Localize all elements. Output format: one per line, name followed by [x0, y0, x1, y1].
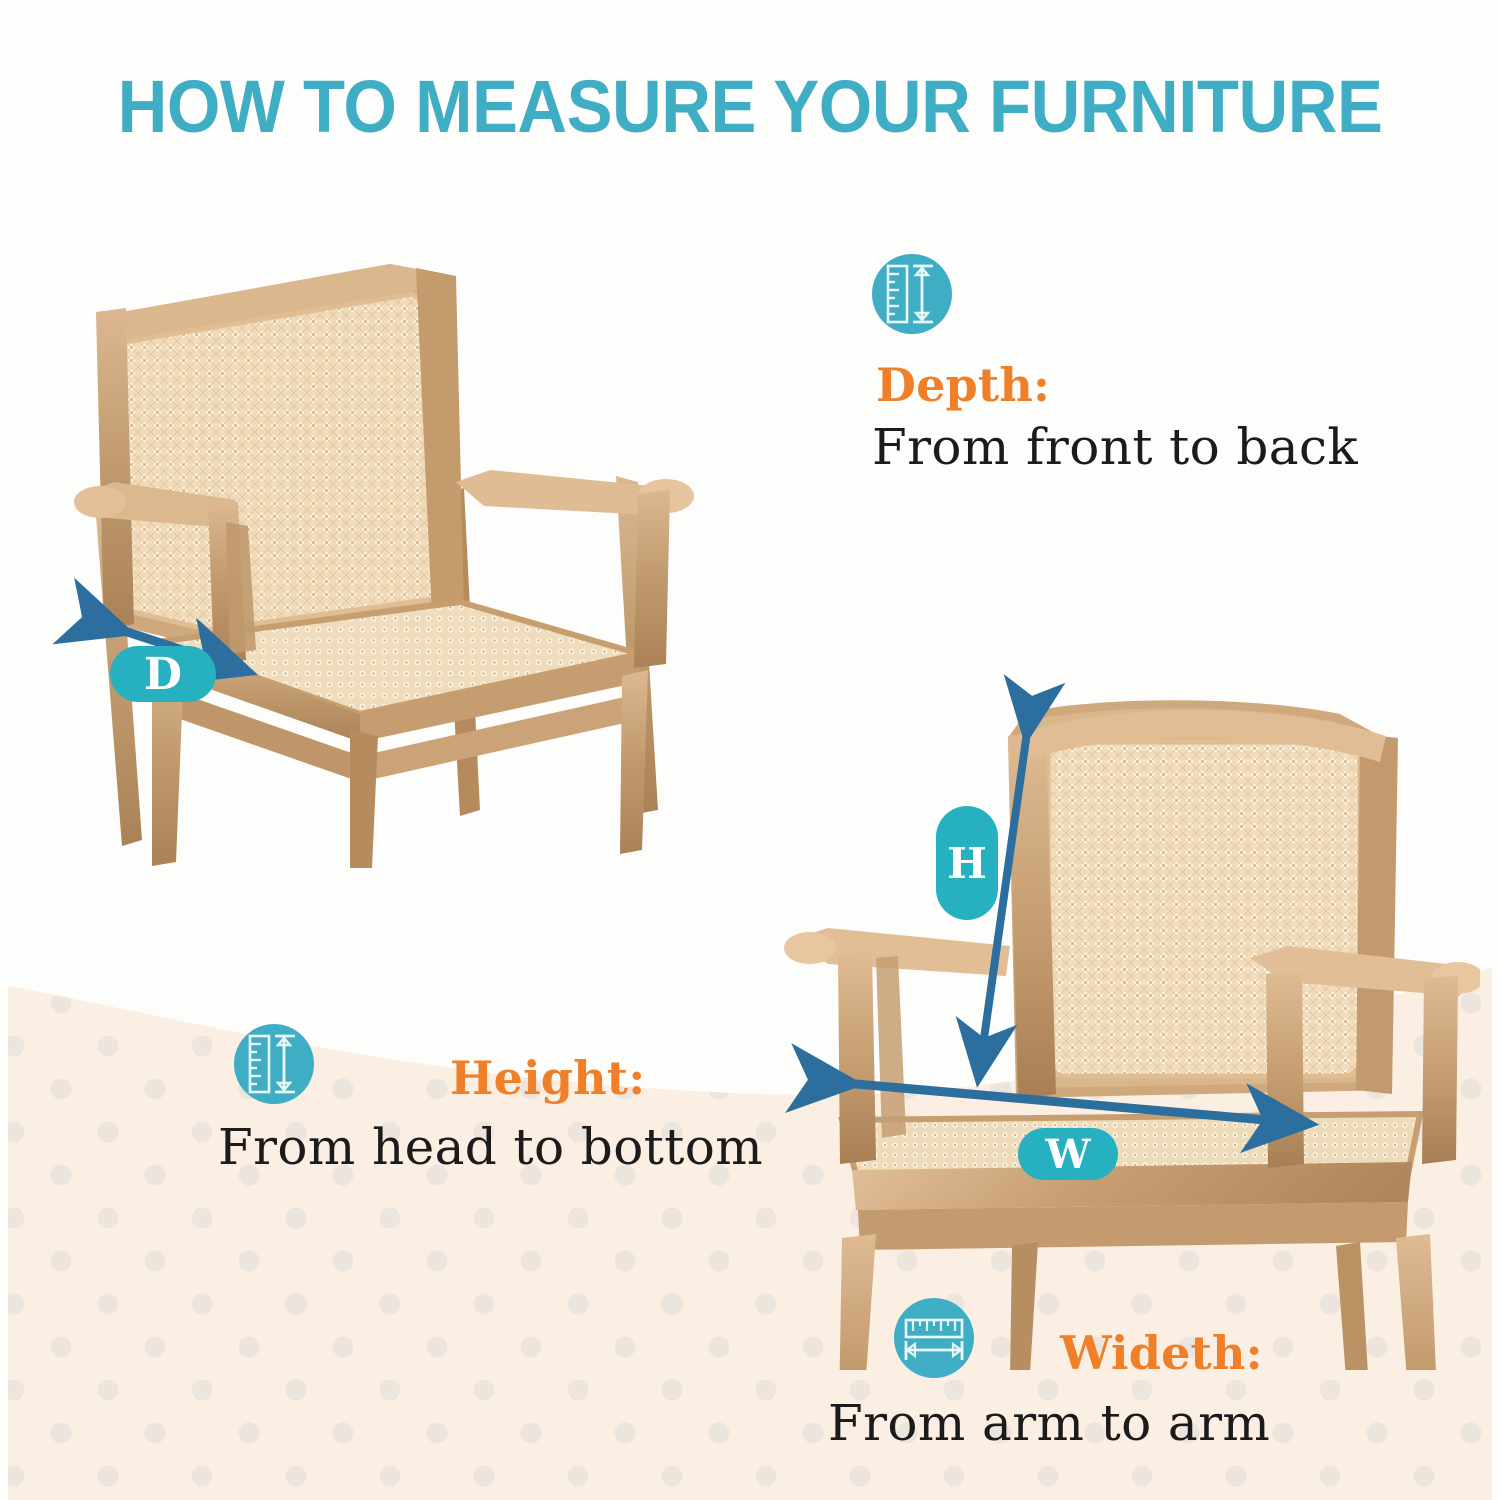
height-info-block: Height: From head to bottom — [228, 1018, 763, 1176]
width-description: From arm to arm — [828, 1394, 1270, 1452]
width-arrow — [833, 1082, 1288, 1122]
vertical-ruler-icon — [228, 1018, 320, 1114]
vertical-ruler-icon — [866, 248, 1358, 344]
depth-info-block: Depth: From front to back — [866, 248, 1358, 476]
depth-term: Depth: — [876, 358, 1358, 412]
height-term: Height: — [450, 1051, 645, 1105]
width-term: Wideth: — [1060, 1326, 1263, 1380]
horizontal-ruler-icon — [888, 1292, 980, 1388]
width-info-block: Wideth: From arm to arm — [888, 1292, 1270, 1452]
measurement-arrows — [0, 0, 1500, 1500]
height-description: From head to bottom — [218, 1118, 763, 1176]
depth-pill: D — [110, 646, 216, 702]
depth-description: From front to back — [872, 418, 1358, 476]
infographic-canvas: HOW TO MEASURE YOUR FURNITURE — [0, 0, 1500, 1500]
width-pill: W — [1018, 1128, 1118, 1180]
height-pill: H — [936, 806, 998, 920]
